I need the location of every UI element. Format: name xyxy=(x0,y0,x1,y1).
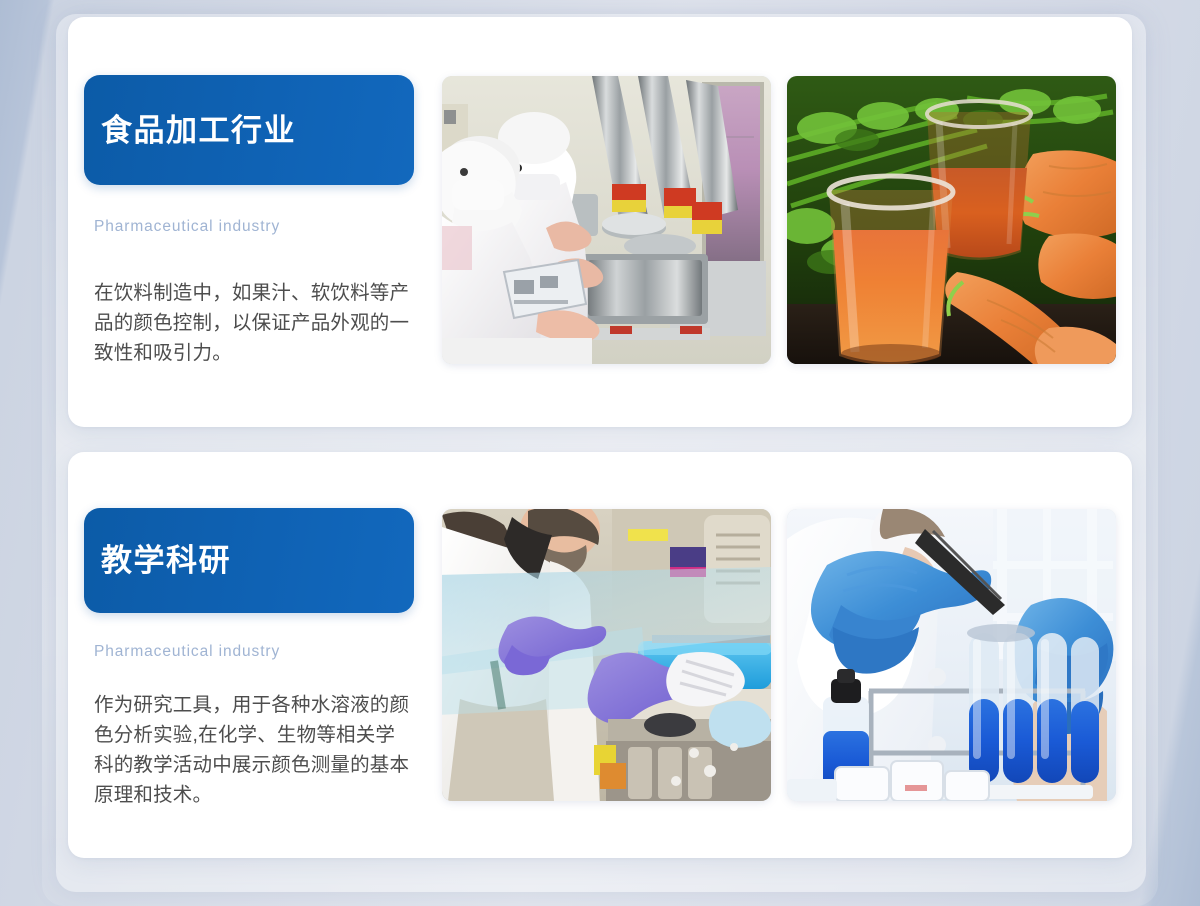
blue-test-tubes-photo xyxy=(787,509,1116,801)
card-text-column: 食品加工行业 Pharmaceutical industry 在饮料制造中，如果… xyxy=(84,17,429,368)
card-subtitle: Pharmaceutical industry xyxy=(84,218,429,236)
card-photo-column xyxy=(429,17,1116,364)
scenario-card[interactable]: 食品加工行业 Pharmaceutical industry 在饮料制造中，如果… xyxy=(68,17,1132,427)
card-subtitle: Pharmaceutical industry xyxy=(84,643,429,661)
card-text-column: 教学科研 Pharmaceutical industry 作为研究工具，用于各种… xyxy=(84,452,429,810)
carrot-juice-photo xyxy=(787,76,1116,364)
card-title-badge[interactable]: 教学科研 xyxy=(84,508,414,613)
card-photo-column xyxy=(429,452,1116,801)
laboratory-instruction-photo xyxy=(442,509,771,801)
card-description: 在饮料制造中，如果汁、软饮料等产品的颜色控制，以保证产品外观的一致性和吸引力。 xyxy=(84,278,414,368)
card-description: 作为研究工具，用于各种水溶液的颜色分析实验,在化学、生物等相关学科的教学活动中展… xyxy=(84,690,414,810)
card-title-label: 教学科研 xyxy=(84,545,231,576)
food-factory-workers-photo xyxy=(442,76,771,364)
card-title-badge[interactable]: 食品加工行业 xyxy=(84,75,414,185)
scenario-card-list: 食品加工行业 Pharmaceutical industry 在饮料制造中，如果… xyxy=(68,17,1132,858)
card-inner: 教学科研 Pharmaceutical industry 作为研究工具，用于各种… xyxy=(68,452,1132,858)
scenario-card[interactable]: 教学科研 Pharmaceutical industry 作为研究工具，用于各种… xyxy=(68,452,1132,858)
card-inner: 食品加工行业 Pharmaceutical industry 在饮料制造中，如果… xyxy=(68,17,1132,427)
card-title-label: 食品加工行业 xyxy=(84,115,296,146)
